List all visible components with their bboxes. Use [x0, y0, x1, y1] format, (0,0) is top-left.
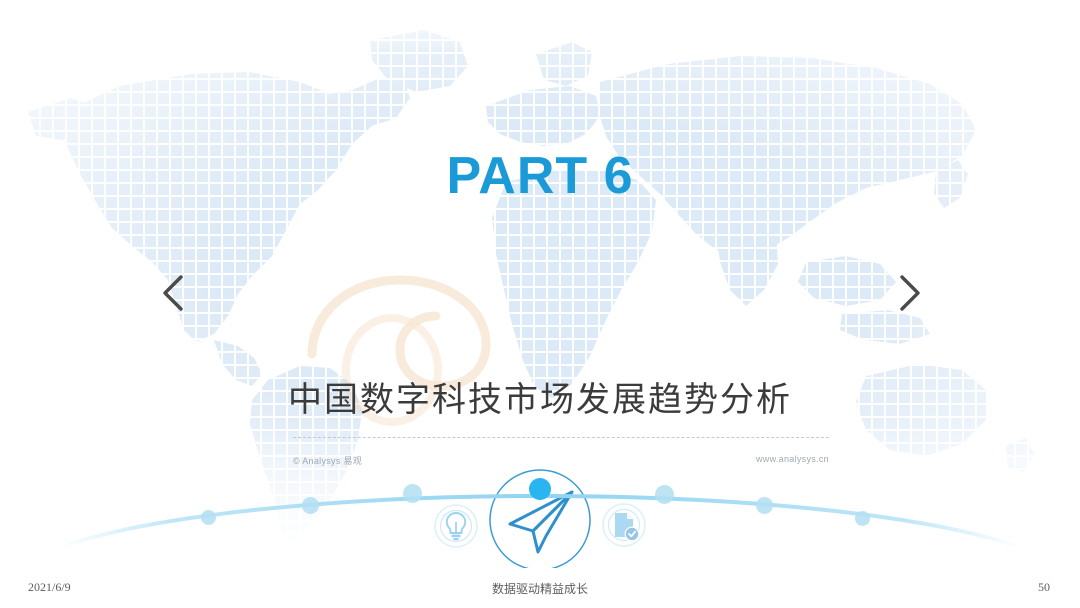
slide-status-bar: 2021/6/9 数据驱动精益成长 50 — [0, 568, 1080, 608]
progress-dot[interactable] — [655, 485, 674, 504]
part-heading: PART 6 — [0, 150, 1080, 202]
progress-arc — [0, 455, 1080, 555]
page-title: 中国数字科技市场发展趋势分析 — [0, 372, 1080, 421]
arc-line — [0, 455, 1080, 555]
progress-dot[interactable] — [403, 484, 422, 503]
progress-dot[interactable] — [201, 510, 216, 525]
progress-dot[interactable] — [855, 511, 870, 526]
divider — [293, 437, 829, 438]
chevron-right-icon — [894, 272, 924, 314]
slide-page-number: 50 — [1038, 580, 1050, 595]
chevron-left-icon — [158, 272, 188, 314]
slide-footer-text: 数据驱动精益成长 — [0, 580, 1080, 597]
prev-slide-button[interactable] — [150, 272, 196, 318]
next-slide-button[interactable] — [886, 272, 932, 318]
progress-dot[interactable] — [302, 497, 319, 514]
progress-dot[interactable] — [529, 478, 551, 500]
progress-dot[interactable] — [756, 497, 773, 514]
slide-canvas: PART 6 中国数字科技市场发展 — [0, 0, 1080, 568]
